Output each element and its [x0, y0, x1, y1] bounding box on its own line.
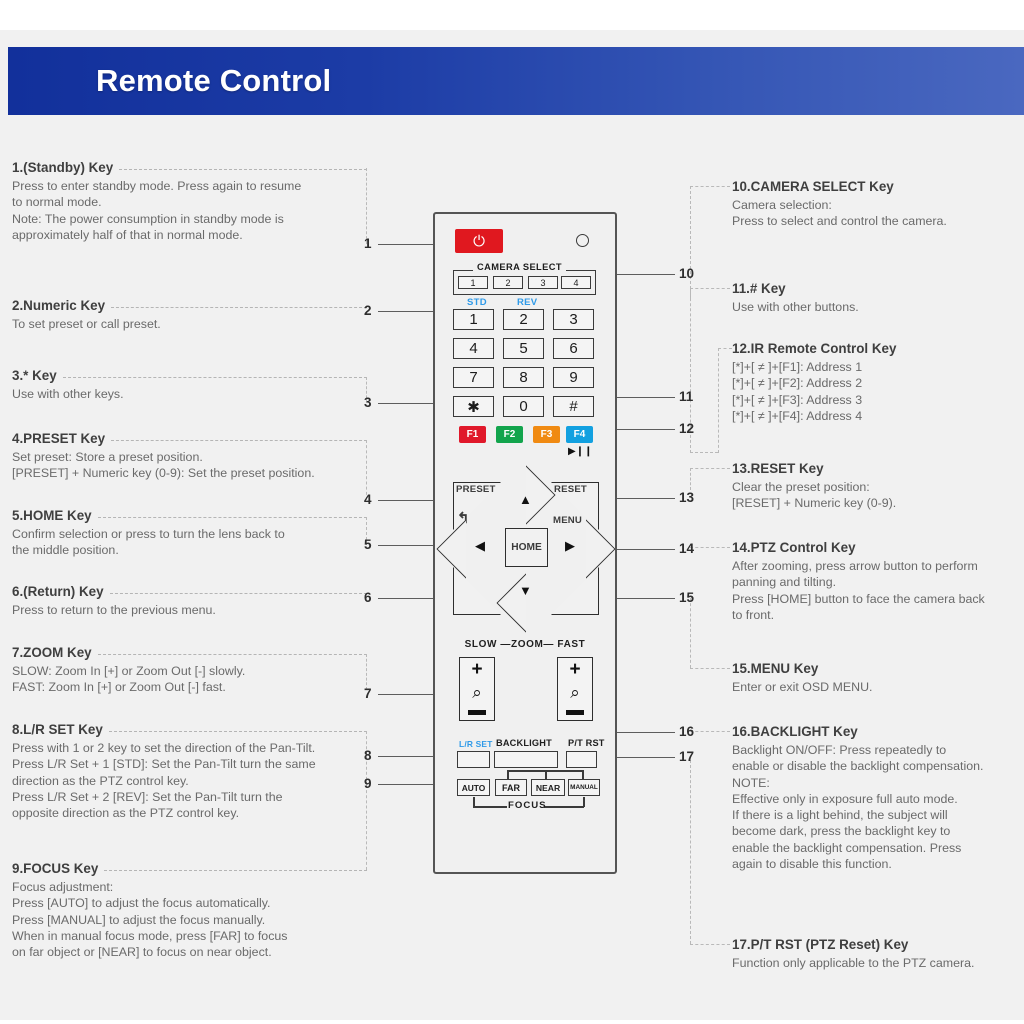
right-item-12-title: 12.IR Remote Control Key	[732, 341, 1022, 357]
page-header: Remote Control	[8, 47, 1024, 115]
left-item-4-title: 4.PRESET Key	[12, 431, 105, 447]
preset-label: PRESET	[456, 484, 496, 495]
f4-button[interactable]: F4	[566, 426, 593, 443]
hash-key[interactable]: #	[553, 396, 594, 417]
right-item-15: 15.MENU Key Enter or exit OSD MENU.	[732, 661, 1022, 695]
numeric-key-3[interactable]: 3	[553, 309, 594, 330]
pt-rst-button[interactable]	[566, 751, 597, 768]
text-line: SLOW: Zoom In [+] or Zoom Out [-] slowly…	[12, 663, 367, 679]
text-line: on far object or [NEAR] to focus on near…	[12, 944, 367, 960]
text-line: Backlight ON/OFF: Press repeatedly to	[732, 742, 1022, 758]
dash-leader	[63, 377, 367, 378]
dot-connector	[718, 348, 719, 453]
right-item-10-body: Camera selection: Press to select and co…	[732, 197, 1022, 230]
text-line: Press [MANUAL] to adjust the focus manua…	[12, 912, 367, 928]
left-item-3-body: Use with other keys.	[12, 386, 367, 402]
right-item-13: 13.RESET Key Clear the preset position: …	[732, 461, 1022, 512]
right-item-11-title: 11.# Key	[732, 281, 1022, 297]
menu-button[interactable]	[551, 567, 599, 615]
text-line: Enter or exit OSD MENU.	[732, 679, 1022, 695]
zoom-in-slow-icon[interactable]: +	[471, 664, 482, 676]
text-line: to front.	[732, 607, 1022, 623]
right-item-13-title: 13.RESET Key	[732, 461, 1022, 477]
standby-power-button[interactable]: ⏻	[455, 229, 503, 253]
text-line: the middle position.	[12, 542, 367, 558]
numeric-key-1[interactable]: 1	[453, 309, 494, 330]
dash-leader	[109, 731, 367, 732]
dot-connector	[690, 598, 691, 668]
dot-connector	[366, 785, 367, 870]
focus-auto-button[interactable]: AUTO	[457, 779, 490, 796]
return-button[interactable]	[453, 567, 501, 615]
dot-connector	[690, 468, 691, 490]
numeric-key-5[interactable]: 5	[503, 338, 544, 359]
text-line: enable the backlight compensation. Press	[732, 840, 1022, 856]
camera-select-button-2[interactable]: 2	[493, 276, 523, 289]
right-item-17: 17.P/T RST (PTZ Reset) Key Function only…	[732, 937, 1022, 971]
callout-number-6: 6	[364, 590, 372, 605]
callout-number-13: 13	[679, 490, 694, 505]
right-item-14: 14.PTZ Control Key After zooming, press …	[732, 540, 1022, 623]
text-line: approximately half of that in normal mod…	[12, 227, 367, 243]
right-item-15-body: Enter or exit OSD MENU.	[732, 679, 1022, 695]
text-line: To set preset or call preset.	[12, 316, 367, 332]
zoom-slow-label: SLOW	[465, 639, 497, 650]
text-line: Use with other keys.	[12, 386, 367, 402]
text-line: Clear the preset position:	[732, 479, 1022, 495]
text-line: Camera selection:	[732, 197, 1022, 213]
left-item-9-body: Focus adjustment: Press [AUTO] to adjust…	[12, 879, 367, 960]
callout-number-10: 10	[679, 266, 694, 281]
zoom-out-fast-icon[interactable]	[566, 710, 584, 715]
callout-number-12: 12	[679, 421, 694, 436]
left-item-2: 2.Numeric Key To set preset or call pres…	[12, 298, 367, 332]
callout-number-17: 17	[679, 749, 694, 764]
right-item-16: 16.BACKLIGHT Key Backlight ON/OFF: Press…	[732, 724, 1022, 872]
right-item-10-title: 10.CAMERA SELECT Key	[732, 179, 1022, 195]
callout-number-14: 14	[679, 541, 694, 556]
callout-number-7: 7	[364, 686, 372, 701]
callout-number-4: 4	[364, 492, 372, 507]
dot-connector	[690, 944, 730, 945]
lr-set-label: L/R SET	[459, 739, 493, 749]
text-line: panning and tilting.	[732, 574, 1022, 590]
numeric-key-9[interactable]: 9	[553, 367, 594, 388]
ir-led-indicator	[576, 234, 589, 247]
focus-manual-button[interactable]: MANUAL	[568, 779, 600, 796]
left-item-7: 7.ZOOM Key SLOW: Zoom In [+] or Zoom Out…	[12, 645, 367, 696]
focus-bracket	[583, 797, 585, 807]
left-item-5-body: Confirm selection or press to turn the l…	[12, 526, 367, 559]
dash-leader	[111, 307, 367, 308]
f3-button[interactable]: F3	[533, 426, 560, 443]
text-line: Focus adjustment:	[12, 879, 367, 895]
dash-leader	[110, 593, 367, 594]
lr-set-button[interactable]	[457, 751, 490, 768]
zoom-fast-rocker[interactable]: + ⌕	[557, 657, 593, 721]
text-line: [RESET] + Numeric key (0-9).	[732, 495, 1022, 511]
zoom-out-slow-icon[interactable]	[468, 710, 486, 715]
left-item-1: 1.(Standby) Key Press to enter standby m…	[12, 160, 367, 243]
dot-connector	[690, 288, 730, 289]
numeric-key-4[interactable]: 4	[453, 338, 494, 359]
left-item-4-body: Set preset: Store a preset position. [PR…	[12, 449, 367, 482]
dot-connector	[690, 731, 730, 732]
camera-select-button-4[interactable]: 4	[561, 276, 591, 289]
callout-number-16: 16	[679, 724, 694, 739]
numeric-key-0[interactable]: 0	[503, 396, 544, 417]
f1-button[interactable]: F1	[459, 426, 486, 443]
dot-connector	[690, 468, 730, 469]
text-line: [*]+[ ≠ ]+[F4]: Address 4	[732, 408, 1022, 424]
magnifier-icon: ⌕	[570, 687, 580, 699]
text-line: enable or disable the backlight compensa…	[732, 758, 1022, 774]
zoom-section-label: SLOW —ZOOM— FAST	[435, 639, 615, 650]
right-item-12-body: [*]+[ ≠ ]+[F1]: Address 1 [*]+[ ≠ ]+[F2]…	[732, 359, 1022, 424]
text-line: Press to enter standby mode. Press again…	[12, 178, 367, 194]
ptz-control-cluster: PRESET RESET ↰ MENU ▲ ▼ ◀ ▶ HOME	[453, 482, 598, 614]
focus-label: FOCUS	[508, 800, 547, 811]
zoom-rule-right: —	[543, 639, 554, 650]
left-item-5-title: 5.HOME Key	[12, 508, 92, 524]
camera-select-button-3[interactable]: 3	[528, 276, 558, 289]
dot-connector	[690, 186, 691, 299]
right-arrow-icon: ▶	[565, 538, 575, 554]
text-line: Press L/R Set + 2 [REV]: Set the Pan-Til…	[12, 789, 367, 805]
text-line: When in manual focus mode, press [FAR] t…	[12, 928, 367, 944]
f2-button[interactable]: F2	[496, 426, 523, 443]
camera-select-label: CAMERA SELECT	[473, 262, 566, 272]
text-line: NOTE:	[732, 775, 1022, 791]
page-root: Remote Control 1.(Standby) Key Press to …	[0, 0, 1024, 1024]
focus-bracket	[473, 806, 507, 808]
callout-number-8: 8	[364, 748, 372, 763]
text-line: Press to select and control the camera.	[732, 213, 1022, 229]
right-item-16-body: Backlight ON/OFF: Press repeatedly to en…	[732, 742, 1022, 872]
asterisk-key[interactable]: ✱	[453, 396, 494, 417]
left-item-6-title: 6.(Return) Key	[12, 584, 104, 600]
rev-label: REV	[517, 297, 537, 308]
dash-leader	[119, 169, 367, 170]
left-item-6: 6.(Return) Key Press to return to the pr…	[12, 584, 367, 618]
dot-connector	[690, 547, 730, 548]
text-line: Confirm selection or press to turn the l…	[12, 526, 367, 542]
dash-leader	[111, 440, 367, 441]
text-line: If there is a light behind, the subject …	[732, 807, 1022, 823]
text-line: opposite direction as the PTZ control ke…	[12, 805, 367, 821]
numeric-key-8[interactable]: 8	[503, 367, 544, 388]
zoom-title-label: ZOOM	[511, 639, 543, 650]
focus-far-button[interactable]: FAR	[495, 779, 527, 796]
right-item-11-body: Use with other buttons.	[732, 299, 1022, 315]
left-item-4: 4.PRESET Key Set preset: Store a preset …	[12, 431, 367, 482]
dash-leader	[98, 517, 367, 518]
left-item-8-body: Press with 1 or 2 key to set the directi…	[12, 740, 367, 821]
top-white-strip	[0, 0, 1024, 30]
left-item-3-title: 3.* Key	[12, 368, 57, 384]
left-item-7-title: 7.ZOOM Key	[12, 645, 92, 661]
page-title: Remote Control	[8, 63, 331, 99]
left-item-8: 8.L/R SET Key Press with 1 or 2 key to s…	[12, 722, 367, 821]
zoom-fast-label: FAST	[557, 639, 585, 650]
left-item-2-body: To set preset or call preset.	[12, 316, 367, 332]
callout-number-15: 15	[679, 590, 694, 605]
dot-connector	[366, 654, 367, 690]
zoom-in-fast-icon[interactable]: +	[569, 664, 580, 676]
right-item-16-title: 16.BACKLIGHT Key	[732, 724, 1022, 740]
zoom-slow-rocker[interactable]: + ⌕	[459, 657, 495, 721]
callout-number-5: 5	[364, 537, 372, 552]
left-item-1-body: Press to enter standby mode. Press again…	[12, 178, 367, 243]
callout-number-2: 2	[364, 303, 372, 318]
focus-top-bracket	[582, 770, 584, 779]
text-line: Press [AUTO] to adjust the focus automat…	[12, 895, 367, 911]
left-item-2-title: 2.Numeric Key	[12, 298, 105, 314]
home-button[interactable]: HOME	[505, 528, 548, 567]
right-item-15-title: 15.MENU Key	[732, 661, 1022, 677]
right-item-11: 11.# Key Use with other buttons.	[732, 281, 1022, 315]
text-line: FAST: Zoom In [+] or Zoom Out [-] fast.	[12, 679, 367, 695]
backlight-label: BACKLIGHT	[496, 738, 552, 748]
dot-connector	[366, 168, 367, 244]
zoom-rule-left: —	[500, 639, 511, 650]
down-arrow-icon: ▼	[519, 583, 532, 598]
text-line: [*]+[ ≠ ]+[F3]: Address 3	[732, 392, 1022, 408]
right-item-17-body: Function only applicable to the PTZ came…	[732, 955, 1022, 971]
right-item-12: 12.IR Remote Control Key [*]+[ ≠ ]+[F1]:…	[732, 341, 1022, 424]
remote-control-device: ⏻ CAMERA SELECT 1 2 3 4 STD REV 1 2 3 4 …	[433, 212, 617, 874]
dot-connector	[718, 348, 732, 349]
left-button[interactable]	[436, 519, 495, 578]
left-item-7-body: SLOW: Zoom In [+] or Zoom Out [-] slowly…	[12, 663, 367, 696]
text-line: [*]+[ ≠ ]+[F2]: Address 2	[732, 375, 1022, 391]
text-line: become dark, press the backlight key to	[732, 823, 1022, 839]
pt-rst-label: P/T RST	[568, 738, 605, 748]
text-line: Effective only in exposure full auto mod…	[732, 791, 1022, 807]
text-line: to normal mode.	[12, 194, 367, 210]
left-item-1-title: 1.(Standby) Key	[12, 160, 113, 176]
numeric-key-6[interactable]: 6	[553, 338, 594, 359]
dot-connector	[690, 452, 718, 453]
dot-connector	[366, 440, 367, 500]
text-line: Press L/R Set + 1 [STD]: Set the Pan-Til…	[12, 756, 367, 772]
dot-connector	[690, 186, 730, 187]
focus-bracket	[544, 806, 584, 808]
menu-label: MENU	[553, 515, 582, 526]
right-item-14-body: After zooming, press arrow button to per…	[732, 558, 1022, 623]
callout-number-1: 1	[364, 236, 372, 251]
callout-number-9: 9	[364, 776, 372, 791]
dash-leader	[104, 870, 367, 871]
text-line: Function only applicable to the PTZ came…	[732, 955, 1022, 971]
magnifier-icon: ⌕	[472, 687, 482, 699]
left-item-3: 3.* Key Use with other keys.	[12, 368, 367, 402]
power-icon: ⏻	[473, 233, 485, 250]
play-pause-icon: ▶❙❙	[568, 446, 592, 457]
backlight-button[interactable]	[494, 751, 558, 768]
focus-near-button[interactable]: NEAR	[531, 779, 565, 796]
text-line: [PRESET] + Numeric key (0-9): Set the pr…	[12, 465, 367, 481]
text-line: Note: The power consumption in standby m…	[12, 211, 367, 227]
dash-leader	[98, 654, 367, 655]
text-line: Press with 1 or 2 key to set the directi…	[12, 740, 367, 756]
text-line: again to disable this function.	[732, 856, 1022, 872]
dot-connector	[690, 668, 730, 669]
right-item-17-title: 17.P/T RST (PTZ Reset) Key	[732, 937, 1022, 953]
numeric-key-7[interactable]: 7	[453, 367, 494, 388]
text-line: Press to return to the previous menu.	[12, 602, 367, 618]
left-item-8-title: 8.L/R SET Key	[12, 722, 103, 738]
bottom-white-strip	[0, 1020, 1024, 1024]
text-line: Press [HOME] button to face the camera b…	[732, 591, 1022, 607]
text-line: Use with other buttons.	[732, 299, 1022, 315]
callout-number-3: 3	[364, 395, 372, 410]
right-item-10: 10.CAMERA SELECT Key Camera selection: P…	[732, 179, 1022, 230]
focus-top-bracket	[545, 770, 547, 779]
left-item-5: 5.HOME Key Confirm selection or press to…	[12, 508, 367, 559]
dot-connector	[690, 760, 691, 944]
callout-number-11: 11	[679, 389, 693, 404]
text-line: [*]+[ ≠ ]+[F1]: Address 1	[732, 359, 1022, 375]
left-item-9-title: 9.FOCUS Key	[12, 861, 98, 877]
reset-label: RESET	[554, 484, 587, 495]
left-arrow-icon: ◀	[475, 538, 485, 554]
text-line: After zooming, press arrow button to per…	[732, 558, 1022, 574]
right-item-14-title: 14.PTZ Control Key	[732, 540, 1022, 556]
left-item-6-body: Press to return to the previous menu.	[12, 602, 367, 618]
numeric-key-2[interactable]: 2	[503, 309, 544, 330]
right-item-13-body: Clear the preset position: [RESET] + Num…	[732, 479, 1022, 512]
text-line: direction as the PTZ control key.	[12, 773, 367, 789]
left-item-9: 9.FOCUS Key Focus adjustment: Press [AUT…	[12, 861, 367, 960]
up-arrow-icon: ▲	[519, 492, 532, 507]
focus-top-bracket	[507, 770, 509, 779]
std-label: STD	[467, 297, 487, 308]
camera-select-button-1[interactable]: 1	[458, 276, 488, 289]
text-line: Set preset: Store a preset position.	[12, 449, 367, 465]
